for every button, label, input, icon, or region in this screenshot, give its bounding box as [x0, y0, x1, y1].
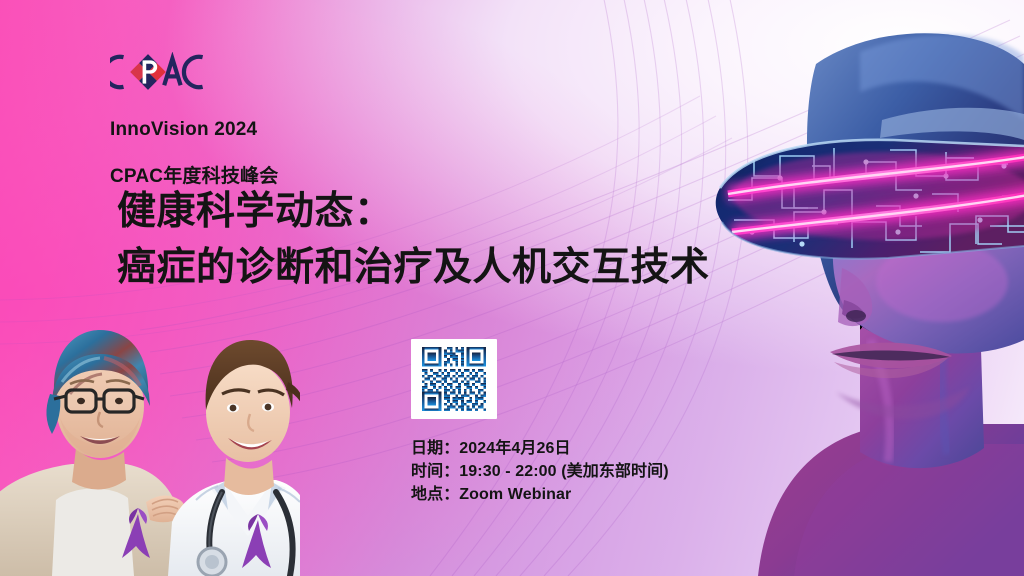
event-details: 日期：2024年4月26日 时间：19:30 - 22:00 (美加东部时间) …: [411, 437, 669, 506]
cpac-logo: [110, 52, 206, 92]
event-time-row: 时间：19:30 - 22:00 (美加东部时间): [411, 460, 669, 483]
event-poster: InnoVision 2024 CPAC年度科技峰会 健康科学动态： 癌症的诊断…: [0, 0, 1024, 576]
qr-code-icon: [417, 344, 491, 414]
brand-line-1: InnoVision 2024: [110, 118, 278, 141]
event-date-row: 日期：2024年4月26日: [411, 437, 669, 460]
page-title: 健康科学动态： 癌症的诊断和治疗及人机交互技术: [117, 184, 710, 296]
cpac-logo-icon: [110, 52, 206, 92]
event-location-row: 地点：Zoom Webinar: [411, 483, 669, 506]
cyborg-vr-illustration: [684, 0, 1024, 576]
cyborg-vr-figure: [684, 0, 1024, 576]
patient-nurse-photo: [0, 286, 300, 576]
qr-code[interactable]: [411, 339, 497, 419]
headline-line-1: 健康科学动态：: [117, 184, 710, 240]
patient-nurse-illustration: [0, 286, 300, 576]
